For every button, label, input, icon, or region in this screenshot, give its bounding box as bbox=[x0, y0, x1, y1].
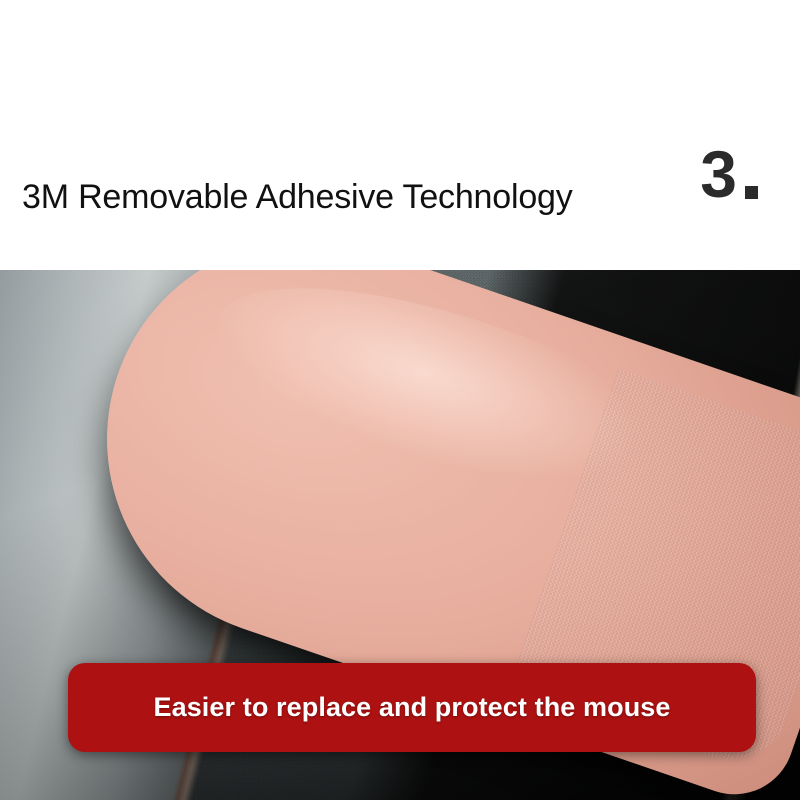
step-number-badge: 3 bbox=[700, 143, 758, 205]
step-number-period bbox=[745, 186, 758, 199]
header-section: 3M Removable Adhesive Technology Removal… bbox=[0, 0, 800, 270]
caption-banner-text: Easier to replace and protect the mouse bbox=[153, 692, 670, 723]
step-number-value: 3 bbox=[700, 143, 736, 205]
headline-line-1: 3M Removable Adhesive Technology bbox=[22, 172, 662, 222]
caption-banner: Easier to replace and protect the mouse bbox=[68, 663, 756, 752]
product-feature-infographic: 3M Removable Adhesive Technology Removal… bbox=[0, 0, 800, 800]
